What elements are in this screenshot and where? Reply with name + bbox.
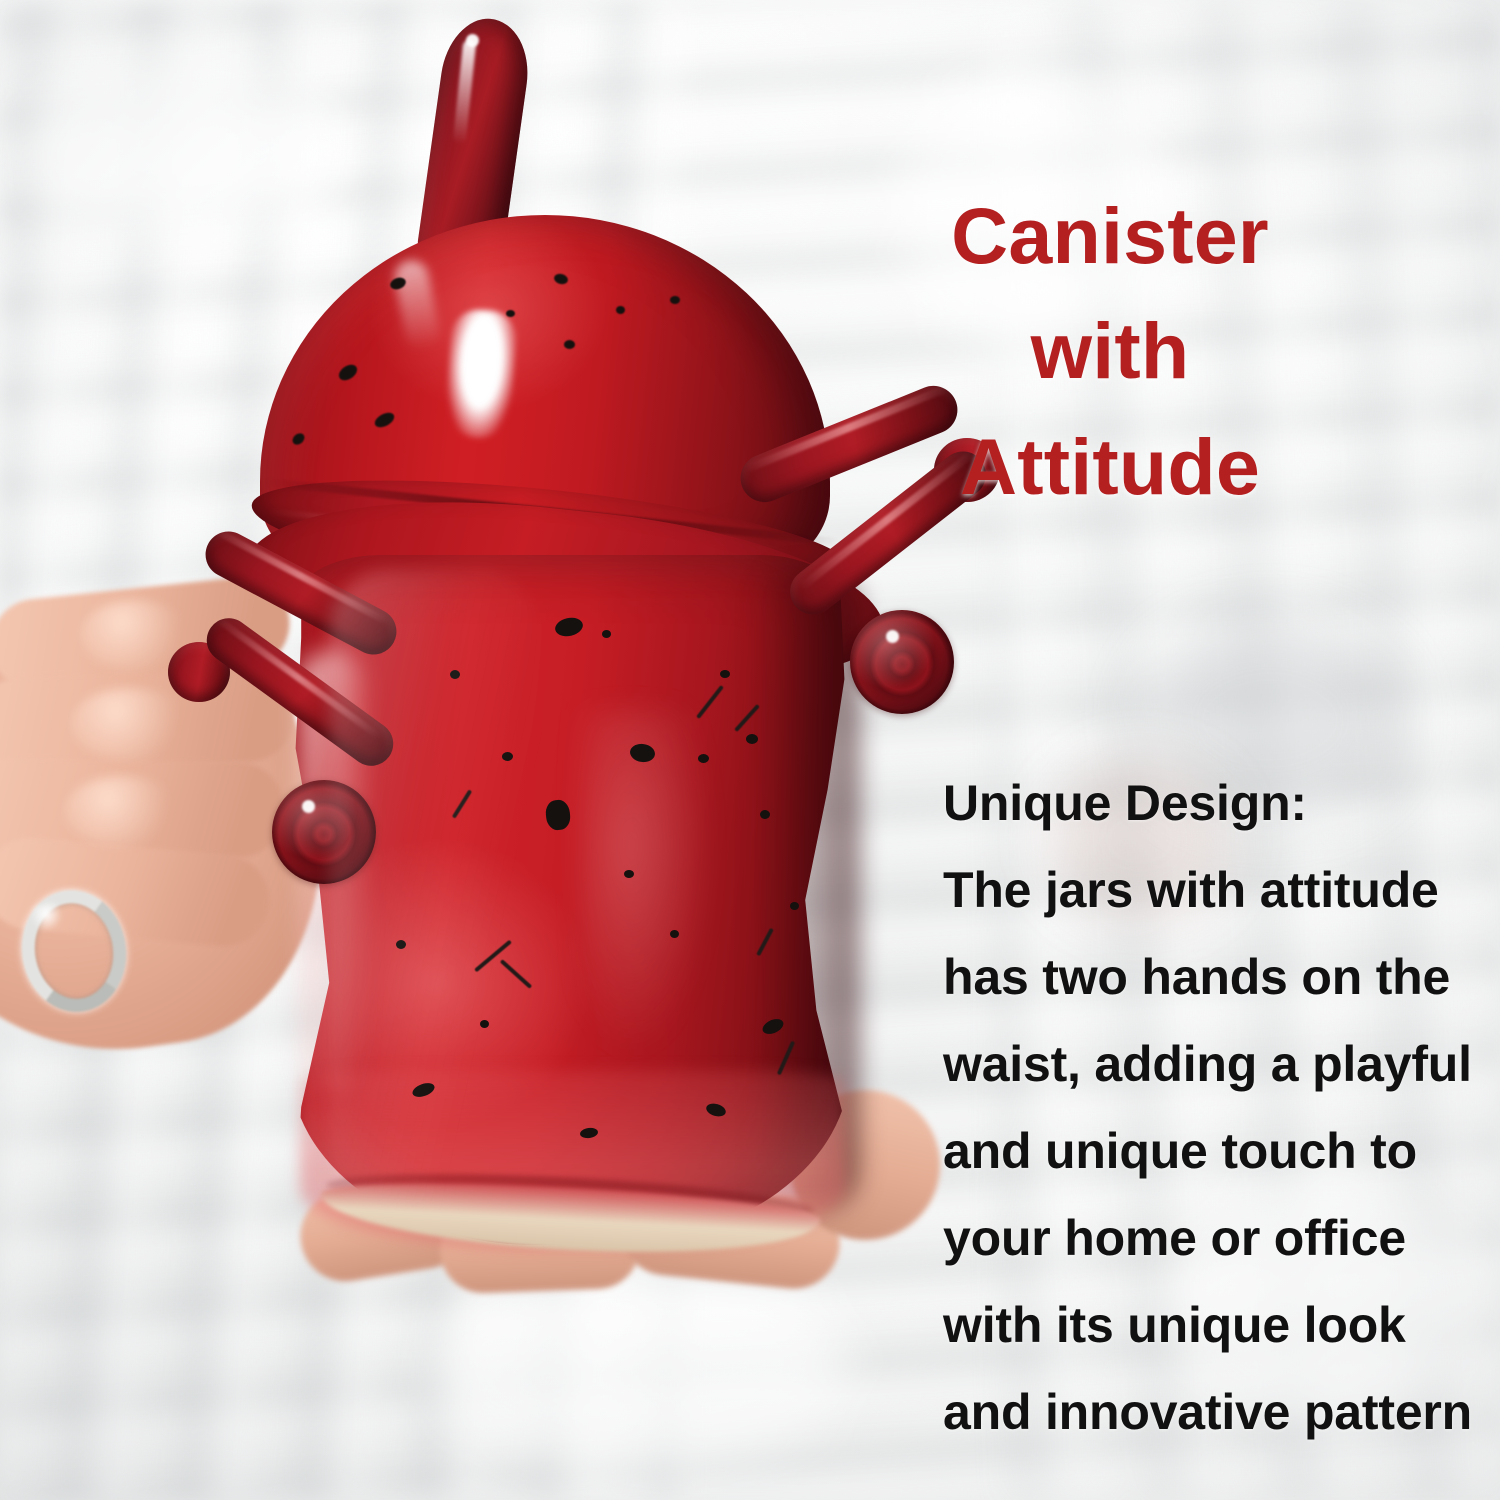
headline-line-2: with	[760, 293, 1460, 408]
glaze-speckle	[502, 752, 513, 761]
glaze-speckle	[670, 296, 680, 304]
body-copy-line: The jars with attitude	[943, 847, 1483, 934]
glaze-speckle	[760, 810, 770, 819]
body-copy-line: waist, adding a playful	[943, 1021, 1483, 1108]
glaze-speckle	[790, 902, 799, 910]
glaze-speckle	[698, 754, 709, 763]
glaze-speckle	[616, 306, 625, 314]
glaze-speckle	[746, 734, 758, 744]
finial-specular-dot	[466, 34, 479, 47]
headline-line-3: Attitude	[760, 409, 1460, 524]
glaze-speckle	[480, 1020, 489, 1028]
glaze-speckle	[506, 310, 515, 317]
glaze-speckle	[602, 630, 611, 638]
body-copy-line: and unique touch to	[943, 1108, 1483, 1195]
body-copy-line: your home or office	[943, 1195, 1483, 1282]
body-copy: Unique Design: The jars with attitude ha…	[943, 760, 1483, 1456]
right-handle-spiral-scroll	[850, 610, 954, 714]
lid-specular-highlight	[444, 308, 519, 440]
glaze-speckle	[670, 930, 679, 938]
product-marketing-image: Canister with Attitude Unique Design: Th…	[0, 0, 1500, 1500]
body-copy-line: has two hands on the	[943, 934, 1483, 1021]
glaze-speckle	[450, 670, 460, 679]
glaze-speckle	[624, 870, 634, 878]
headline-line-1: Canister	[760, 178, 1460, 293]
glaze-speckle	[720, 670, 730, 678]
body-copy-line: with its unique look	[943, 1282, 1483, 1369]
glaze-speckle	[396, 940, 406, 949]
left-scroll-specular-dot	[302, 800, 315, 813]
right-scroll-specular-dot	[886, 630, 899, 643]
glaze-speckle	[564, 340, 575, 349]
body-copy-line: Unique Design:	[943, 760, 1483, 847]
left-handle-spiral-scroll	[272, 780, 376, 884]
headline: Canister with Attitude	[760, 178, 1460, 524]
body-copy-line: and innovative pattern	[943, 1369, 1483, 1456]
